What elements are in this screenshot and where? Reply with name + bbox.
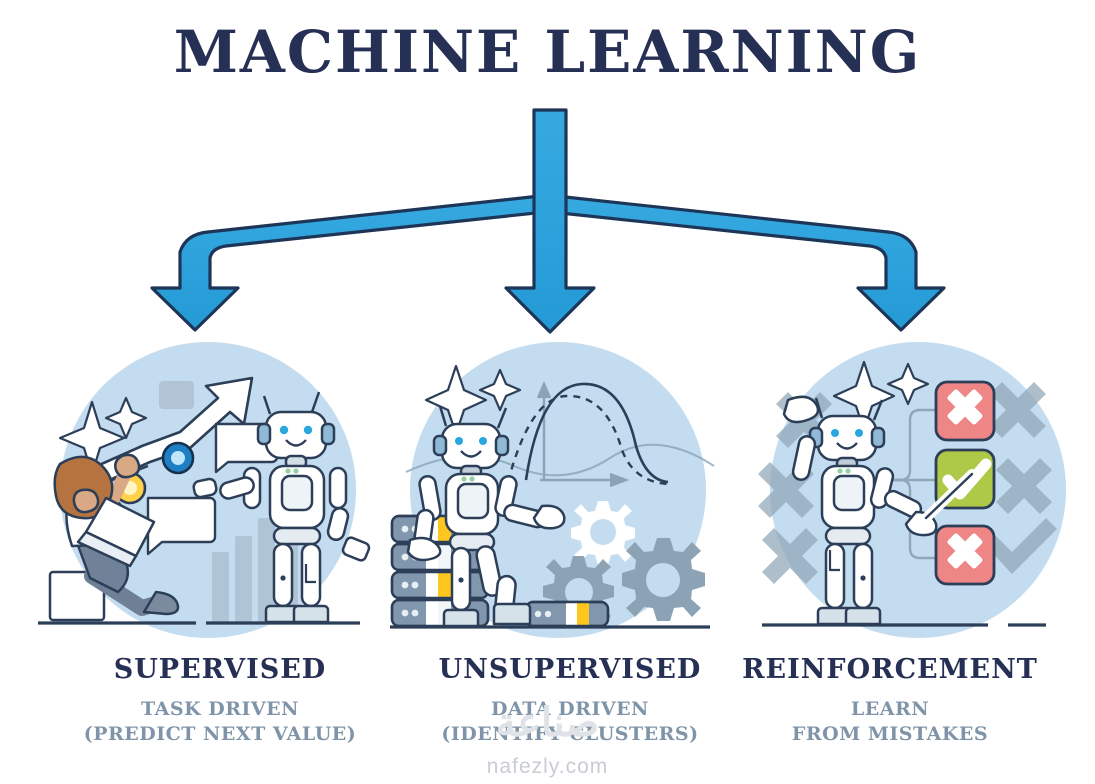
subtitle-line: TASK DRIVEN [30, 697, 410, 723]
down-arrow-left [152, 196, 545, 330]
branch-subtitle-supervised: TASK DRIVEN (PREDICT NEXT VALUE) [30, 697, 410, 748]
subtitle-line: FROM MISTAKES [700, 722, 1080, 748]
caption-supervised: SUPERVISED TASK DRIVEN (PREDICT NEXT VAL… [30, 655, 410, 748]
down-arrow-right [551, 196, 944, 330]
subtitle-line: LEARN [700, 697, 1080, 723]
branch-title-reinforcement: REINFORCEMENT [700, 655, 1080, 685]
branch-subtitle-reinforcement: LEARN FROM MISTAKES [700, 697, 1080, 748]
illustration-supervised [30, 340, 390, 660]
gear-icon-dark [622, 538, 705, 621]
option-box-reject-bottom [936, 526, 994, 584]
server-unit [392, 572, 488, 598]
illustration-row [0, 340, 1095, 660]
data-node-blue [163, 443, 193, 473]
caption-row: SUPERVISED TASK DRIVEN (PREDICT NEXT VAL… [0, 655, 1095, 780]
down-arrow-center [506, 110, 594, 332]
branch-title-supervised: SUPERVISED [30, 655, 410, 685]
option-box-reject-top [936, 382, 994, 440]
caption-reinforcement: REINFORCEMENT LEARN FROM MISTAKES [700, 655, 1080, 748]
diagram-canvas: MACHINE LEARNING [0, 0, 1095, 784]
branch-arrow-group [0, 0, 1095, 360]
illustration-reinforcement [740, 340, 1095, 660]
illustration-unsupervised [380, 340, 740, 660]
gear-icon-light [571, 501, 635, 565]
subtitle-line: (PREDICT NEXT VALUE) [30, 722, 410, 748]
server-unit-side [526, 602, 608, 626]
